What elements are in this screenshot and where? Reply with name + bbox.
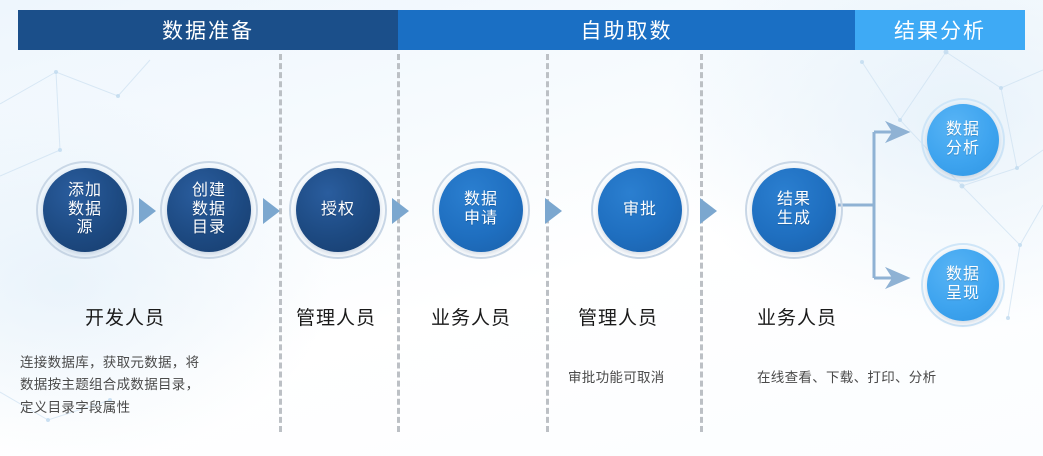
node-label: 授权 — [321, 201, 355, 220]
node-label-line: 生成 — [777, 210, 811, 229]
node-label-line: 申请 — [464, 210, 498, 229]
flow-arrow-2 — [263, 198, 280, 224]
node-label-line: 授权 — [321, 201, 355, 220]
diagram-canvas: 数据准备 自助取数 结果分析 添加 数据 源 — [0, 0, 1043, 456]
phase-label: 自助取数 — [581, 15, 673, 45]
phase-tab-data-preparation[interactable]: 数据准备 — [18, 10, 398, 50]
node-label-line: 结果 — [777, 191, 811, 210]
role-label-developer: 开发人员 — [85, 303, 165, 330]
node-label-line: 审批 — [623, 201, 657, 220]
lane-divider-1 — [279, 54, 285, 432]
lane-divider-2 — [397, 54, 403, 432]
node-approval[interactable]: 审批 — [591, 161, 689, 259]
node-label-line: 数据 — [464, 191, 498, 210]
flow-arrow-3 — [392, 198, 409, 224]
phase-label: 数据准备 — [162, 15, 254, 45]
node-label-line: 创建 — [192, 182, 226, 201]
node-label: 结果 生成 — [777, 191, 811, 229]
phase-label: 结果分析 — [894, 15, 986, 45]
flow-arrow-4 — [545, 198, 562, 224]
node-label: 审批 — [623, 201, 657, 220]
node-label-line: 数据 — [946, 121, 980, 140]
node-label: 添加 数据 源 — [68, 182, 102, 239]
role-label-administrator-1: 管理人员 — [296, 303, 376, 330]
role-label-administrator-2: 管理人员 — [578, 303, 658, 330]
node-label-line: 数据 — [946, 266, 980, 285]
phase-tab-self-service-query[interactable]: 自助取数 — [398, 10, 855, 50]
role-label-business-2: 业务人员 — [757, 303, 837, 330]
node-label-line: 分析 — [946, 140, 980, 159]
node-authorize[interactable]: 授权 — [289, 161, 387, 259]
node-label: 数据 申请 — [464, 191, 498, 229]
description-approval: 审批功能可取消 — [568, 367, 718, 389]
node-add-data-source[interactable]: 添加 数据 源 — [36, 161, 134, 259]
node-label: 数据 呈现 — [946, 266, 980, 304]
node-data-presentation[interactable]: 数据 呈现 — [921, 243, 1005, 327]
flow-arrow-5 — [700, 198, 717, 224]
node-label-line: 目录 — [192, 219, 226, 238]
node-label-line: 数据 — [192, 201, 226, 220]
node-create-data-catalog[interactable]: 创建 数据 目录 — [160, 161, 258, 259]
node-label: 数据 分析 — [946, 121, 980, 159]
node-label-line: 源 — [68, 219, 102, 238]
node-data-request[interactable]: 数据 申请 — [432, 161, 530, 259]
node-label-line: 呈现 — [946, 285, 980, 304]
lane-divider-3 — [546, 54, 552, 432]
flow-arrow-1 — [139, 198, 156, 224]
phase-header-bar: 数据准备 自助取数 结果分析 — [18, 10, 1025, 50]
node-label-line: 数据 — [68, 201, 102, 220]
description-data-preparation: 连接数据库，获取元数据，将 数据按主题组合成数据目录， 定义目录字段属性 — [20, 352, 270, 419]
node-data-analysis[interactable]: 数据 分析 — [921, 98, 1005, 182]
phase-tab-result-analysis[interactable]: 结果分析 — [855, 10, 1025, 50]
node-label-line: 添加 — [68, 182, 102, 201]
node-label: 创建 数据 目录 — [192, 182, 226, 239]
description-result-analysis: 在线查看、下载、打印、分析 — [757, 367, 997, 389]
role-label-business-1: 业务人员 — [431, 303, 511, 330]
node-result-generation[interactable]: 结果 生成 — [745, 161, 843, 259]
